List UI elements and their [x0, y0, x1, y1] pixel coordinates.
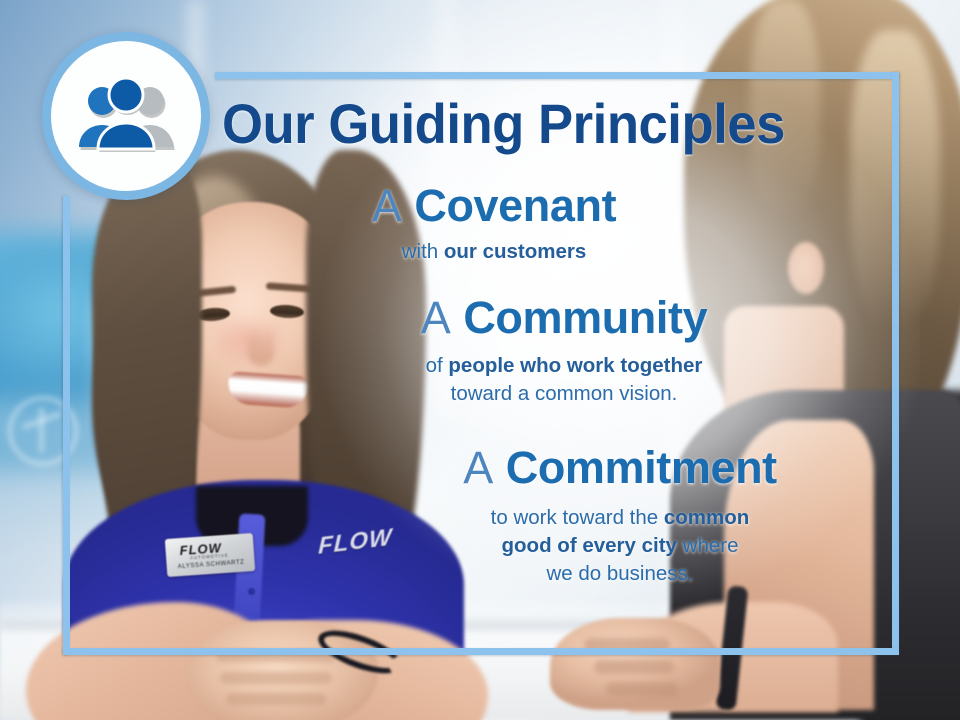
subtext-emphasis: our customers	[444, 240, 586, 263]
subtext-run: toward a common vision.	[451, 382, 678, 405]
principle-word: Community	[463, 292, 707, 343]
subtext-run: we do business.	[546, 562, 693, 585]
finger	[220, 672, 332, 684]
principle-word: Commitment	[506, 442, 777, 493]
nose	[248, 328, 274, 366]
subtext-line: we do business.	[342, 560, 898, 588]
finger	[606, 682, 678, 696]
principle-covenant: A Covenant with our customers	[300, 182, 898, 266]
finger	[226, 693, 326, 705]
principle-commitment: A Commitment to work toward the commongo…	[300, 444, 898, 589]
frame-border-left	[63, 196, 70, 655]
subtext-run: with	[402, 240, 444, 263]
guiding-principles-graphic: FLOW FLOW AUTOMOTIVE ALYSSA SCHWARTZ	[0, 0, 960, 720]
subtext-line: to work toward the common	[342, 504, 898, 532]
finger	[594, 660, 674, 674]
principle-subtext: with our customers	[300, 238, 688, 266]
group-people-icon	[74, 79, 178, 153]
subtext-emphasis: common	[664, 506, 749, 529]
subtext-line: of people who work together	[300, 352, 828, 380]
principle-community: A Community of people who work togethert…	[300, 294, 898, 408]
subtext-run: to work toward the	[491, 506, 664, 529]
subtext-emphasis: good of every city	[502, 534, 677, 557]
principle-heading: A Covenant	[300, 182, 688, 230]
subtext-line: with our customers	[300, 238, 688, 266]
principle-subtext: of people who work togethertoward a comm…	[300, 352, 828, 409]
frame-border-top	[215, 72, 899, 79]
subtext-line: toward a common vision.	[300, 380, 828, 408]
page-title: Our Guiding Principles	[222, 96, 842, 152]
subtext-run: of	[426, 354, 449, 377]
principle-subtext: to work toward the commongood of every c…	[342, 504, 898, 589]
principle-article: A	[463, 442, 493, 493]
principle-article: A	[421, 292, 451, 343]
badge-employee-name: ALYSSA SCHWARTZ	[178, 560, 245, 571]
principles-list: A Covenant with our customers A Communit…	[300, 182, 898, 589]
shirt-button	[248, 588, 255, 595]
subtext-emphasis: people who work together	[448, 354, 702, 377]
principle-heading: A Commitment	[342, 444, 898, 492]
frame-border-bottom	[63, 648, 899, 655]
subtext-run: where	[677, 534, 739, 557]
badge-circle	[42, 32, 210, 200]
principle-article: A	[372, 180, 402, 231]
principle-heading: A Community	[300, 294, 828, 342]
subtext-line: good of every city where	[342, 532, 898, 560]
employee-name-badge: FLOW AUTOMOTIVE ALYSSA SCHWARTZ	[165, 533, 255, 577]
principle-word: Covenant	[414, 180, 616, 231]
